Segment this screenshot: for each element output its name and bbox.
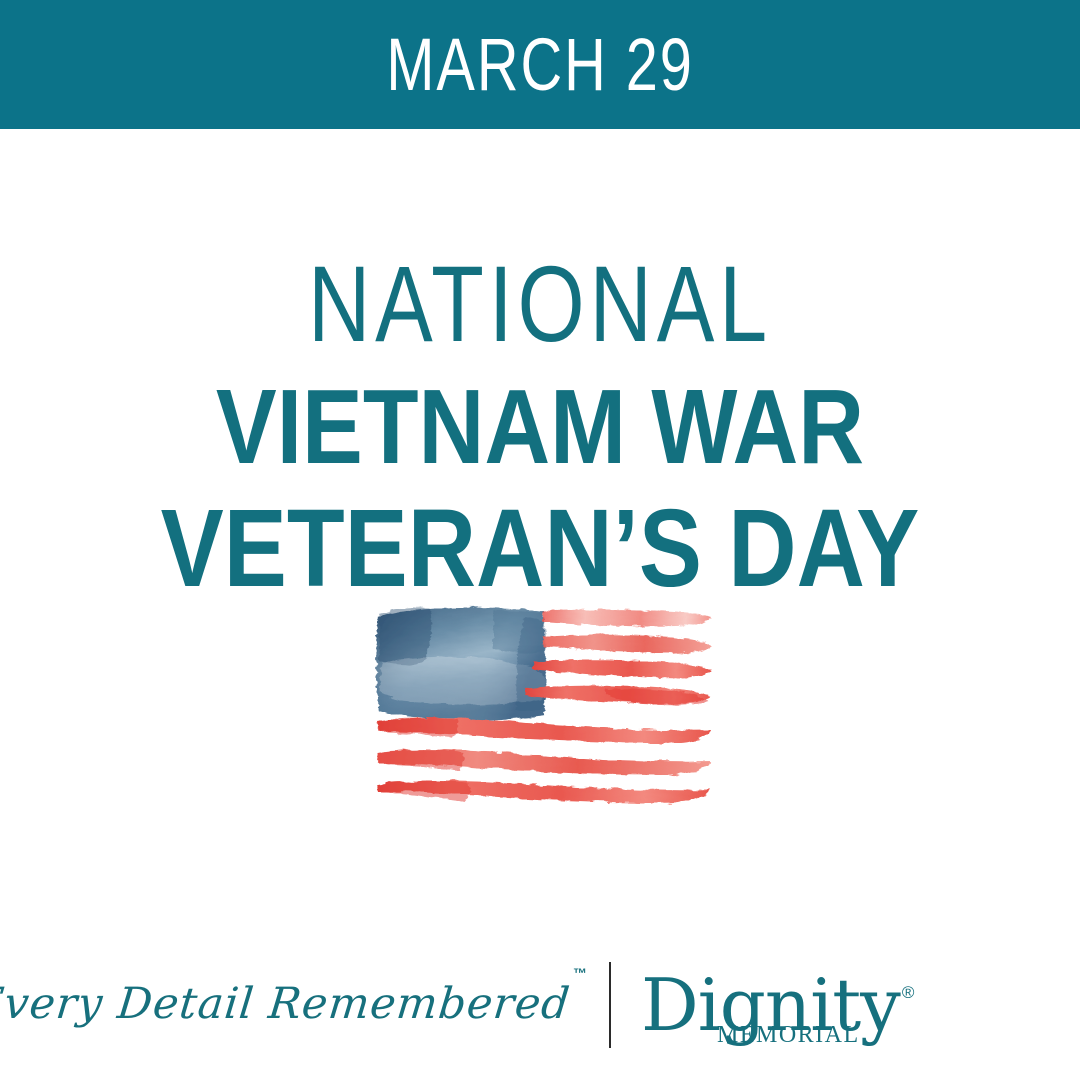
footer-brand-lockup: Every Detail Remembered ™ Dignity® MEMOR… [0,950,1080,1060]
date-banner: MARCH 29 [0,0,1080,129]
trademark-icon: ™ [573,965,587,981]
headline-line-national: NATIONAL [108,250,972,358]
headline-line-vietnam-war: VIETNAM WAR [76,374,1005,480]
poster-canvas: MARCH 29 NATIONAL VIETNAM WAR VETERAN’S … [0,0,1080,1080]
tagline-text: Every Detail Remembered [0,981,572,1028]
dignity-memorial-logo: Dignity® MEMORIAL [611,969,941,1041]
flag-canton [376,608,546,720]
banner-date-text: MARCH 29 [386,28,693,102]
american-flag-icon [375,603,713,808]
logo-subtitle: MEMORIAL [717,1023,860,1047]
tagline-block: Every Detail Remembered ™ [139,981,609,1028]
registered-icon: ® [902,983,915,1002]
logo-group: Dignity® MEMORIAL [641,969,912,1041]
headline-line-veterans-day: VETERAN’S DAY [76,494,1005,604]
headline-block: NATIONAL VIETNAM WAR VETERAN’S DAY [0,250,1080,604]
flag-stripes-lower [377,718,711,803]
flag-stripes-upper [525,610,712,706]
